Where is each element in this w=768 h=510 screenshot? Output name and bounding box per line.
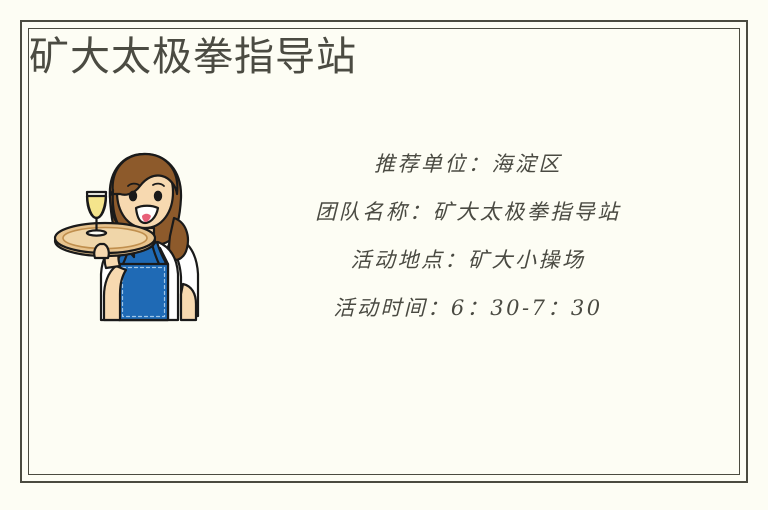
left-eye xyxy=(129,191,137,202)
body-row: 推荐单位：海淀区 团队名称：矿大太极拳指导站 活动地点：矿大小操场 活动时间：6… xyxy=(28,136,740,366)
poster-page: 矿大太极拳指导站 xyxy=(0,0,768,510)
poster-content: 推荐单位：海淀区 团队名称：矿大太极拳指导站 活动地点：矿大小操场 活动时间：6… xyxy=(28,28,740,475)
waitress-illustration xyxy=(50,144,220,329)
glass-base xyxy=(87,230,106,235)
info-line-activity-location: 活动地点：矿大小操场 xyxy=(351,250,586,271)
info-line-team-name: 团队名称：矿大太极拳指导站 xyxy=(315,202,621,223)
left-hand xyxy=(94,244,109,258)
info-line-recommending-unit: 推荐单位：海淀区 xyxy=(374,154,562,175)
info-line-activity-time: 活动时间：6：30-7：30 xyxy=(333,298,602,319)
info-block: 推荐单位：海淀区 团队名称：矿大太极拳指导站 活动地点：矿大小操场 活动时间：6… xyxy=(218,136,718,366)
apron-body xyxy=(119,264,168,320)
right-eye xyxy=(154,191,162,202)
